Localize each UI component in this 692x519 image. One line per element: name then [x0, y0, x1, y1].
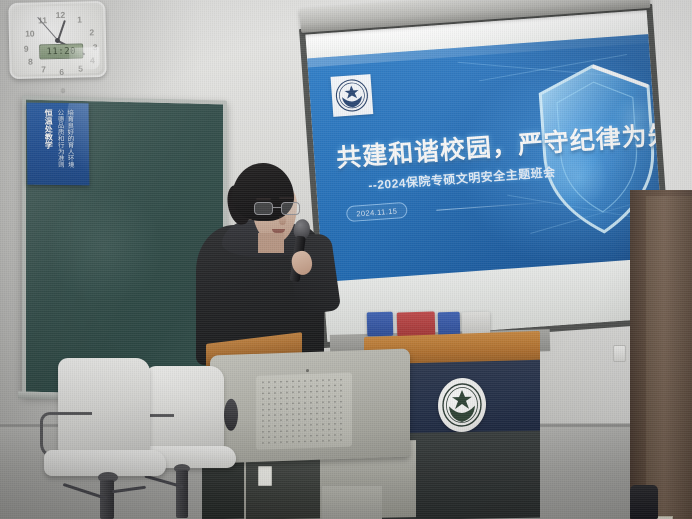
wall-nail	[61, 88, 65, 92]
clock-center-pin	[55, 37, 60, 42]
desk-box-red	[397, 312, 436, 337]
clock-numeral: 1	[74, 14, 84, 24]
clock-numeral: 10	[25, 28, 35, 38]
chair-front[interactable]	[42, 358, 202, 519]
desk-box-blue	[438, 312, 461, 337]
blue-classroom-sign: 培育良好的育人环境 公德品质和行为准则 恒温处教学	[27, 103, 90, 186]
clock-face: 12 1 2 3 4 5 6 7 8 9 10 11 11:20	[12, 5, 102, 75]
clock-numeral: 12	[55, 10, 65, 20]
screen-surface: 共建和谐校园，严守纪律为先 --2024保院专硕文明安全主题班会 2024.11…	[305, 10, 668, 342]
floor-bag	[630, 485, 658, 519]
clock-numeral: 2	[87, 27, 97, 37]
clock-numeral: 8	[25, 56, 35, 66]
clock-numeral: 6	[57, 67, 67, 77]
university-emblem-icon	[438, 377, 486, 432]
lectern-led-indicator	[306, 369, 309, 372]
clock-numeral: 7	[39, 64, 49, 74]
eyebrow-left	[256, 198, 271, 200]
student-speaker	[196, 163, 330, 363]
chair-stem	[100, 480, 114, 519]
glasses-icon	[254, 202, 300, 215]
chair-foot	[112, 486, 146, 494]
clock-numeral: 9	[21, 44, 31, 54]
glasses-lens-right	[281, 202, 300, 215]
sign-text-column: 恒温处教学	[44, 109, 53, 179]
glasses-lens-left	[254, 202, 273, 215]
eyebrow-right	[279, 197, 294, 199]
sign-glare	[48, 103, 90, 186]
classroom-door[interactable]	[646, 196, 692, 519]
lectern-bottom-strip	[322, 486, 382, 519]
slide-date-badge: 2024.11.15	[346, 202, 408, 222]
wall-clock: 12 1 2 3 4 5 6 7 8 9 10 11 11:20	[8, 1, 107, 79]
classroom-scene: 12 1 2 3 4 5 6 7 8 9 10 11 11:20 培育良好的育人…	[0, 0, 692, 519]
desk-box-blue	[367, 312, 394, 337]
glasses-bridge	[273, 207, 281, 208]
lectern-speaker-grille-dots	[260, 377, 346, 446]
neck	[258, 233, 284, 253]
chalkboard-smudge	[46, 188, 164, 308]
university-emblem-icon	[331, 74, 374, 117]
nose	[279, 215, 286, 225]
presentation-slide: 共建和谐校园，严守纪律为先 --2024保院专硕文明安全主题班会 2024.11…	[307, 34, 664, 282]
clock-glass-glare	[69, 47, 99, 70]
wall-light-switch[interactable]	[613, 345, 626, 362]
